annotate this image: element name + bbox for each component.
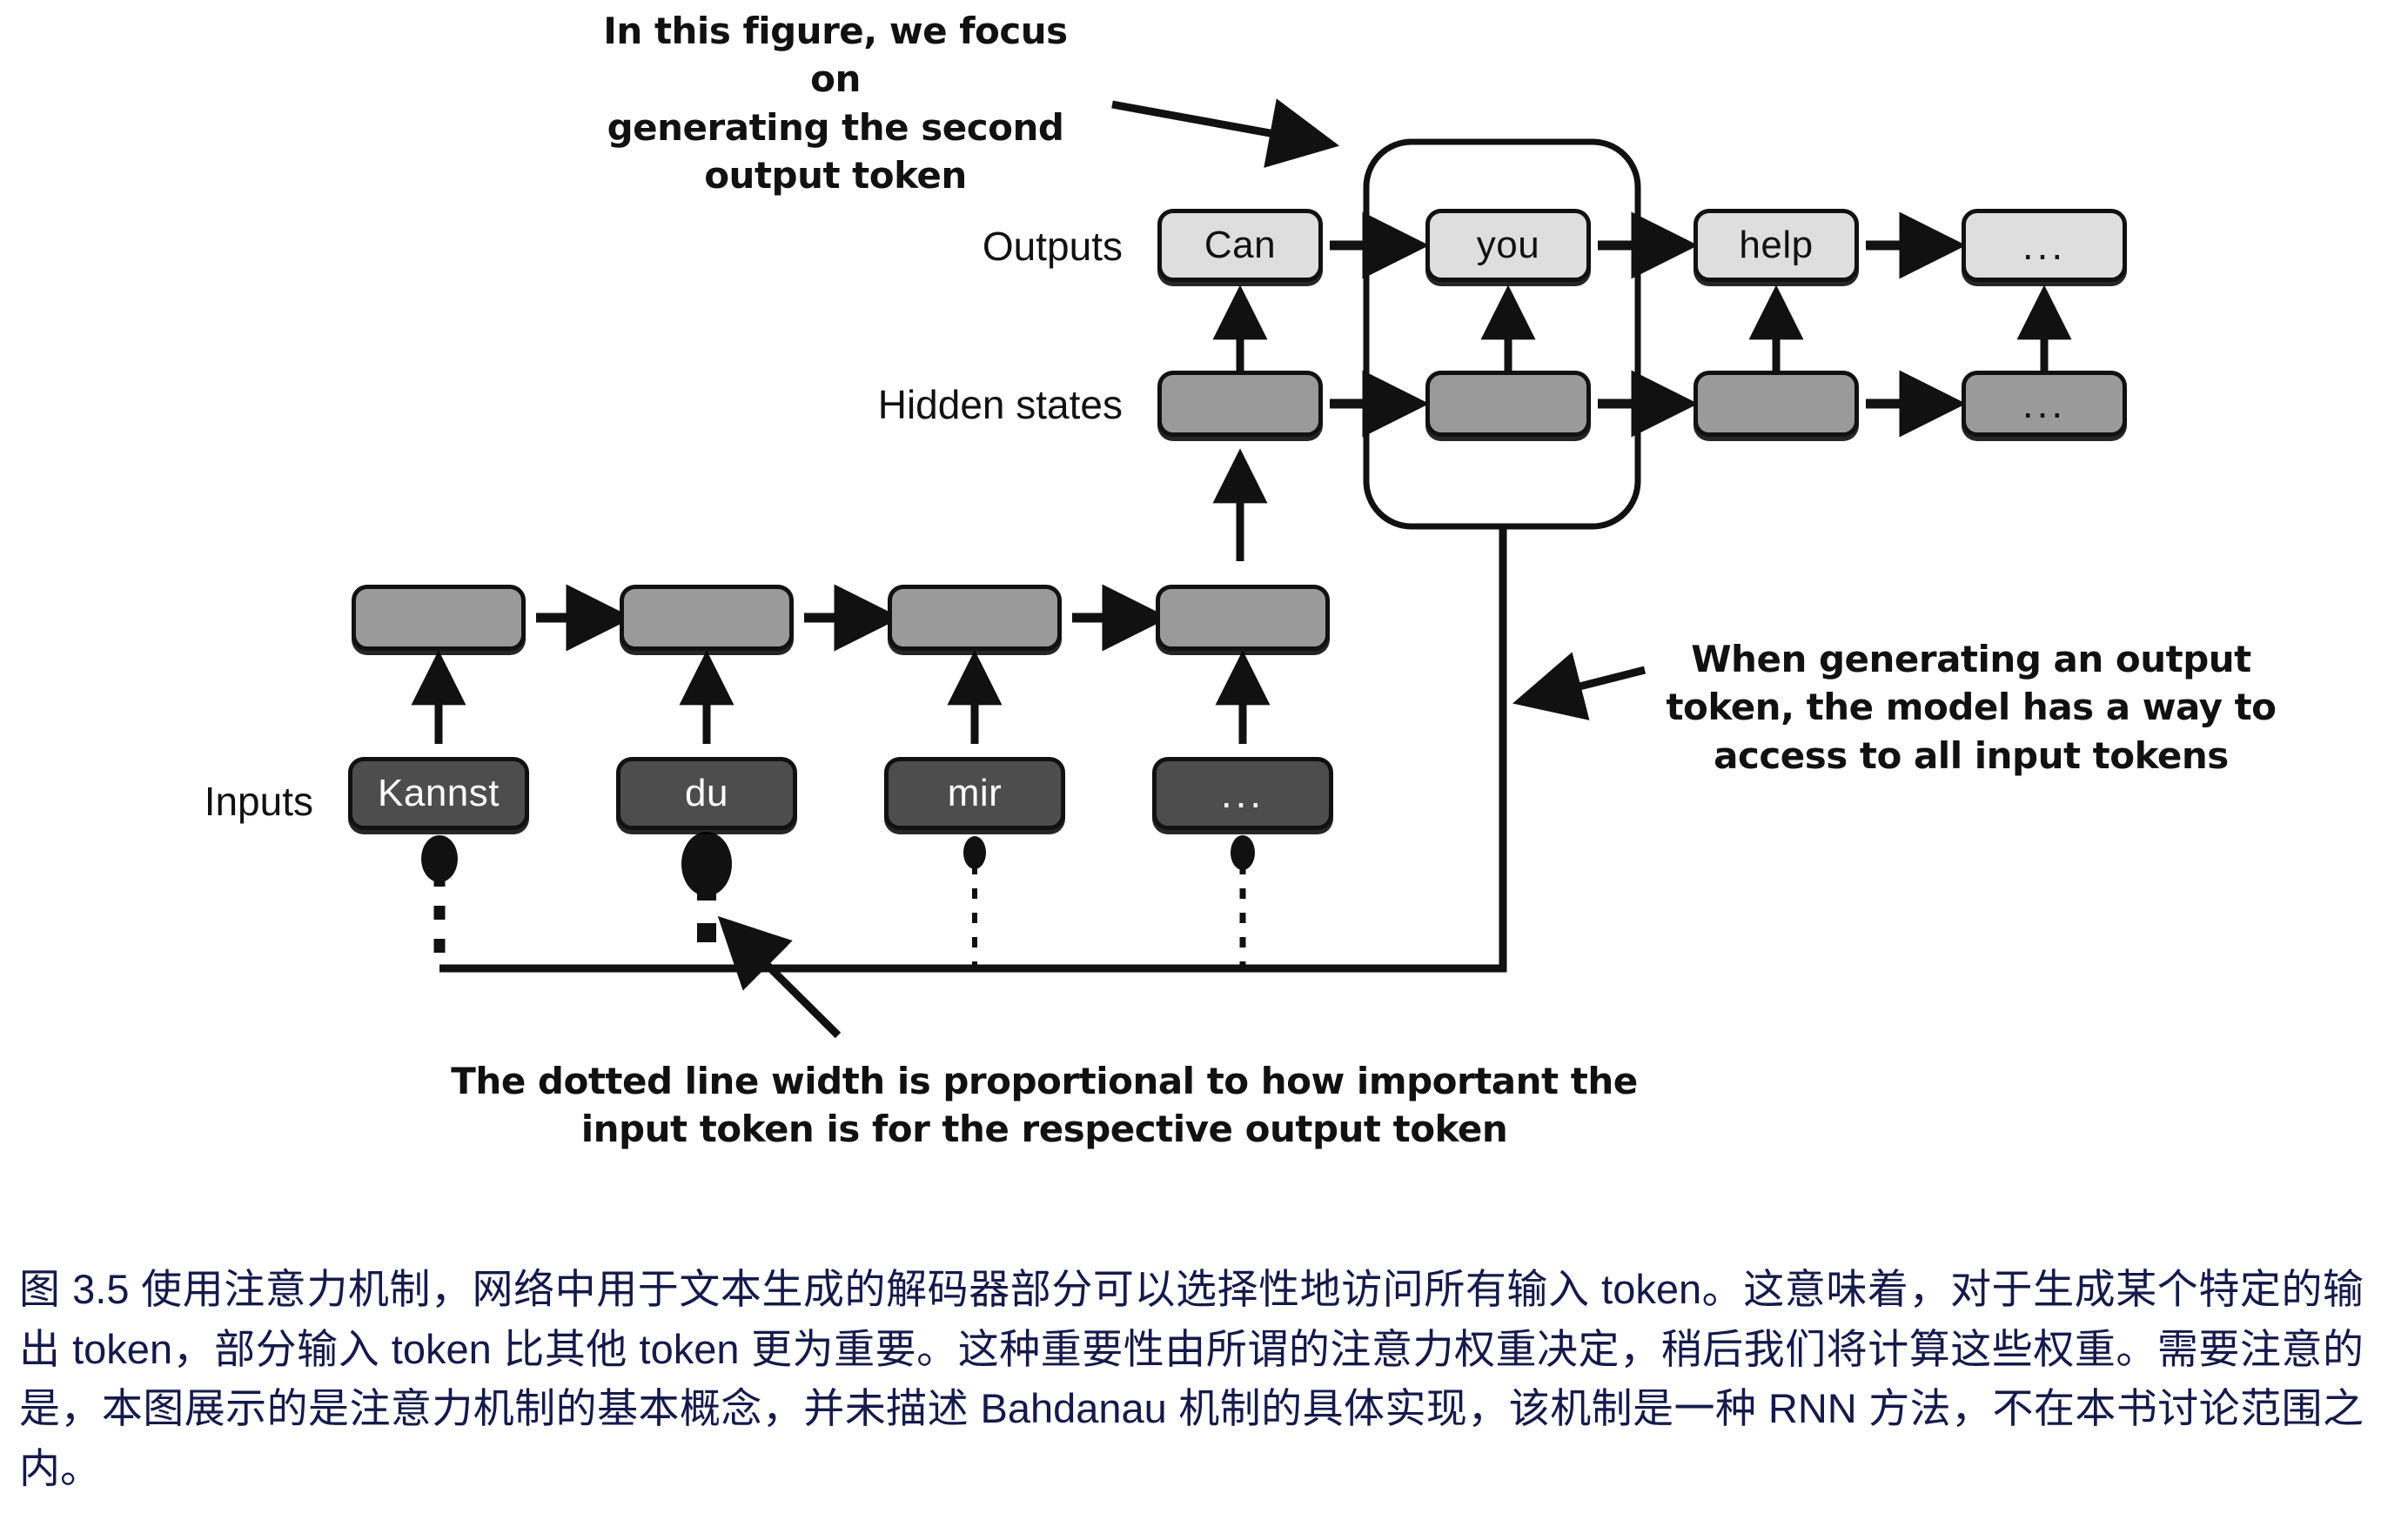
hidden-state-box[interactable] xyxy=(1425,371,1591,437)
annotation-top-line-2: generating the second xyxy=(574,104,1097,151)
annotation-right-line-3: access to all input tokens xyxy=(1658,732,2284,780)
input-token-box[interactable]: ... xyxy=(1152,757,1333,830)
annotation-bottom-line-2: input token is for the respective output… xyxy=(435,1105,1653,1153)
attention-weight-dots xyxy=(421,832,1255,896)
input-token-box[interactable]: mir xyxy=(884,757,1065,830)
hidden-state-box[interactable] xyxy=(1157,371,1323,437)
input-token-label: ... xyxy=(1221,784,1264,804)
attention-dotted-lines xyxy=(439,864,1243,968)
input-token-label: du xyxy=(685,772,728,815)
output-token-label: ... xyxy=(2022,236,2066,256)
input-token-label: mir xyxy=(948,772,1003,815)
annotation-top-line-1: In this figure, we focus on xyxy=(574,7,1097,104)
row-label-hidden-states: Hidden states xyxy=(600,381,1123,428)
encoder-state-box[interactable] xyxy=(888,585,1062,651)
encoder-state-box[interactable] xyxy=(352,585,526,651)
output-token-label: you xyxy=(1477,224,1539,267)
hidden-state-label: ... xyxy=(2022,394,2066,414)
hidden-state-box[interactable]: ... xyxy=(1962,371,2127,437)
bottom-annotation-arrow xyxy=(727,925,838,1035)
hidden-state-box[interactable] xyxy=(1694,371,1859,437)
row-label-outputs: Outputs xyxy=(775,223,1123,270)
encoder-state-box[interactable] xyxy=(620,585,794,651)
annotation-bottom: The dotted line width is proportional to… xyxy=(435,1057,1653,1154)
annotation-top: In this figure, we focus on generating t… xyxy=(574,7,1097,200)
output-token-box[interactable]: you xyxy=(1425,209,1591,282)
output-token-label: help xyxy=(1739,224,1813,267)
annotation-right-line-2: token, the model has a way to xyxy=(1658,683,2284,731)
row-label-inputs: Inputs xyxy=(0,778,313,825)
output-token-label: Can xyxy=(1204,224,1276,267)
top-annotation-arrow xyxy=(1112,104,1327,144)
focus-highlight-box xyxy=(1366,142,1638,526)
right-annotation-arrow xyxy=(1525,670,1645,700)
annotation-right-line-1: When generating an output xyxy=(1658,635,2284,683)
annotation-bottom-line-1: The dotted line width is proportional to… xyxy=(435,1057,1653,1105)
input-token-label: Kannst xyxy=(378,772,500,815)
annotation-right: When generating an output token, the mod… xyxy=(1658,635,2284,780)
input-token-box[interactable]: Kannst xyxy=(348,757,529,830)
attention-mechanism-diagram: In this figure, we focus on generating t… xyxy=(0,0,2381,1235)
input-token-box[interactable]: du xyxy=(616,757,797,830)
encoder-state-box[interactable] xyxy=(1156,585,1330,651)
output-token-box[interactable]: help xyxy=(1694,209,1859,282)
figure-caption: 图 3.5 使用注意力机制，网络中用于文本生成的解码器部分可以选择性地访问所有输… xyxy=(19,1260,2364,1498)
output-token-box[interactable]: Can xyxy=(1157,209,1323,282)
output-token-box[interactable]: ... xyxy=(1962,209,2127,282)
annotation-top-line-3: output token xyxy=(574,151,1097,199)
